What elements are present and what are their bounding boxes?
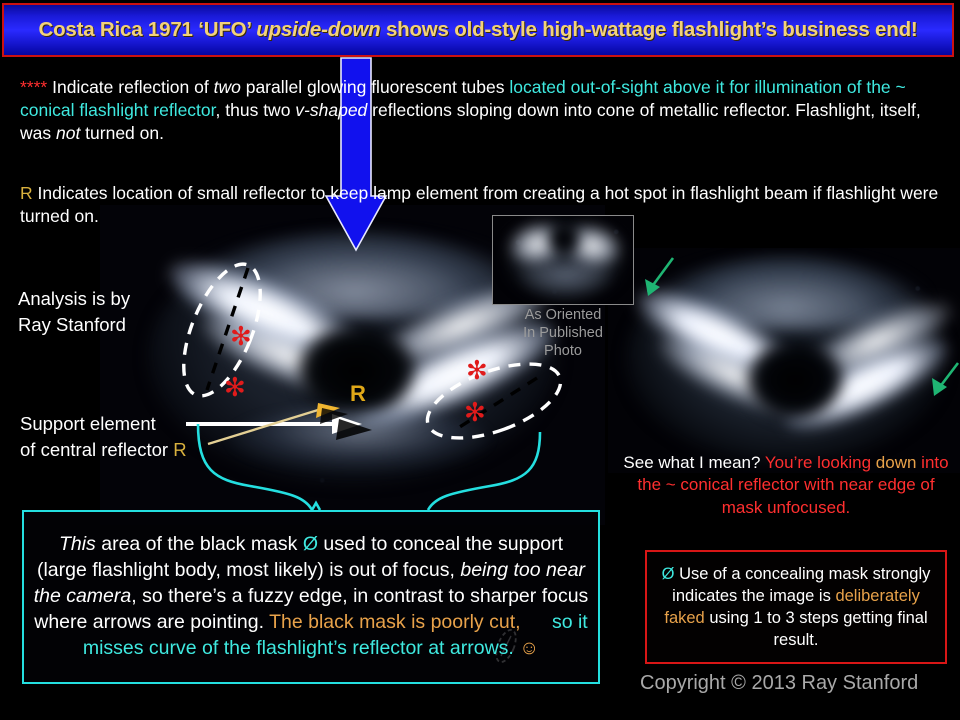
right-ufo-photo	[608, 248, 960, 473]
para1-i: turned on.	[80, 123, 164, 143]
title-banner: Costa Rica 1971 ‘UFO’ upside-down shows …	[2, 3, 954, 57]
red-d: using 1 to 3 steps getting final result.	[705, 609, 928, 649]
analysis-line-1: Analysis is by	[18, 286, 130, 312]
banner-part-3: shows old-style high-wattage flashlight’…	[380, 18, 917, 41]
para1-c: parallel glowing fluorescent tubes	[241, 77, 510, 97]
paragraph-two: R Indicates location of small reflector …	[20, 182, 940, 228]
para1-a: Indicate reflection of	[47, 77, 213, 97]
para1-h: not	[56, 123, 80, 143]
asterisk-marker-4: ✻	[464, 400, 486, 426]
para1-stars: ****	[20, 77, 47, 97]
banner-text: Costa Rica 1971 ‘UFO’ upside-down shows …	[38, 18, 917, 42]
para1-b: two	[214, 77, 241, 97]
para2-a: Indicates location of small reflector to…	[20, 183, 938, 226]
support-line-2-a: of central reflector	[20, 439, 173, 460]
cyan-box-text: This area of the black mask Ø used to co…	[33, 532, 589, 662]
seewhat-b: You’re looking	[765, 453, 871, 472]
asterisk-marker-1: ✻	[230, 324, 252, 350]
cyan-g: The black mask is poorly cut,	[269, 611, 520, 633]
cyan-explanation-box: This area of the black mask Ø used to co…	[22, 510, 600, 684]
cyan-c-diameter-symbol: Ø	[303, 533, 318, 555]
paragraph-one: **** Indicate reflection of two parallel…	[20, 76, 940, 145]
inset-lower-rim	[517, 262, 615, 296]
asterisk-marker-2: ✻	[224, 375, 246, 401]
seewhat-c: down	[876, 453, 917, 472]
red-box-text: Ø Use of a concealing mask strongly indi…	[654, 563, 938, 651]
analysis-line-2: Ray Stanford	[18, 312, 130, 338]
support-line-1: Support element	[20, 411, 187, 437]
see-what-i-mean-text: See what I mean? You’re looking down int…	[618, 452, 954, 519]
photo-lower-rim	[230, 410, 490, 470]
red-a-diameter-symbol: Ø	[662, 565, 675, 583]
cyan-b: area of the black mask	[96, 533, 303, 555]
inset-caption: As Oriented In Published Photo	[492, 306, 634, 360]
inset-published-photo	[492, 215, 634, 305]
support-line-2: of central reflector R	[20, 437, 187, 463]
support-line-2-r: R	[173, 439, 186, 460]
slide-root: ✻ ✻ ✻ ✻ R Costa Rica 1971 ‘UFO’ upside-d…	[0, 0, 960, 720]
asterisk-marker-3: ✻	[466, 358, 488, 384]
center-r-label: R	[350, 381, 366, 407]
para1-e: , thus two	[216, 100, 296, 120]
right-dark-cone	[746, 340, 844, 420]
para1-f: v-shaped	[295, 100, 367, 120]
seewhat-a: See what I mean?	[623, 453, 764, 472]
copyright-notice: Copyright © 2013 Ray Stanford	[640, 672, 918, 695]
inset-caption-line-1: As Oriented	[492, 306, 634, 324]
support-element-label: Support element of central reflector R	[20, 411, 187, 462]
inset-caption-line-2: In Published	[492, 324, 634, 342]
banner-part-1: Costa Rica 1971 ‘UFO’	[38, 18, 256, 41]
banner-part-2: upside-down	[256, 18, 380, 41]
para2-r: R	[20, 183, 33, 203]
cyan-a: This	[59, 533, 96, 555]
analysis-credit: Analysis is by Ray Stanford	[18, 286, 130, 337]
red-conclusion-box: Ø Use of a concealing mask strongly indi…	[645, 550, 947, 664]
cyan-smiley: ☺	[514, 637, 539, 659]
inset-caption-line-3: Photo	[492, 342, 634, 360]
